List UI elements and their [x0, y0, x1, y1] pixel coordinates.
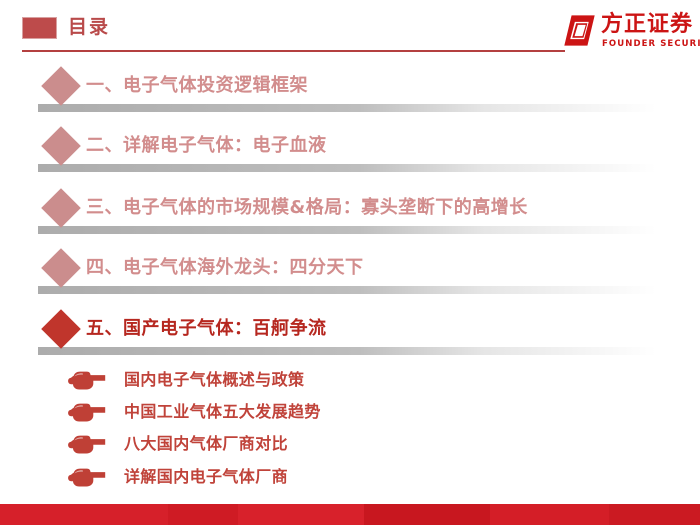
pointing-hand-icon [66, 463, 108, 491]
logo-name-en: FOUNDER SECURITIES [602, 39, 700, 49]
diamond-bullet-icon [41, 248, 81, 288]
toc-item-label: 一、电子气体投资逻辑框架 [86, 68, 308, 104]
toc-subitem-label: 国内电子气体概述与政策 [124, 366, 304, 394]
row-shadow [38, 286, 656, 294]
slide-canvas: 目录 方正证券 FOUNDER SECURITIES 一、电子气体投资逻辑框架 … [0, 0, 700, 525]
toc-item-label: 五、国产电子气体：百舸争流 [86, 311, 327, 347]
pointing-hand-icon [66, 430, 108, 458]
diamond-bullet-icon [41, 309, 81, 349]
bottom-accent-bar [0, 504, 700, 525]
row-shadow [38, 347, 656, 355]
pointing-hand-icon [66, 398, 108, 426]
header-block-icon [22, 17, 57, 39]
diamond-bullet-icon [41, 66, 81, 106]
row-shadow [38, 164, 656, 172]
diamond-bullet-icon [41, 188, 81, 228]
logo-name-cn: 方正证券 [601, 12, 693, 38]
toc-item-label: 二、详解电子气体：电子血液 [86, 128, 327, 164]
toc-item-label: 四、电子气体海外龙头：四分天下 [86, 250, 364, 286]
row-shadow [38, 104, 656, 112]
toc-subitem-label: 八大国内气体厂商对比 [124, 430, 288, 458]
founder-securities-logo-mark [563, 14, 596, 47]
toc-item-label: 三、电子气体的市场规模&格局：寡头垄断下的高增长 [86, 190, 528, 226]
page-title: 目录 [68, 14, 110, 40]
diamond-bullet-icon [41, 126, 81, 166]
pointing-hand-icon [66, 366, 108, 394]
toc-subitem-label: 详解国内电子气体厂商 [124, 463, 288, 491]
toc-subitem-label: 中国工业气体五大发展趋势 [124, 398, 321, 426]
header-divider [22, 50, 565, 52]
row-shadow [38, 226, 656, 234]
company-logo: 方正证券 FOUNDER SECURITIES [563, 12, 691, 54]
